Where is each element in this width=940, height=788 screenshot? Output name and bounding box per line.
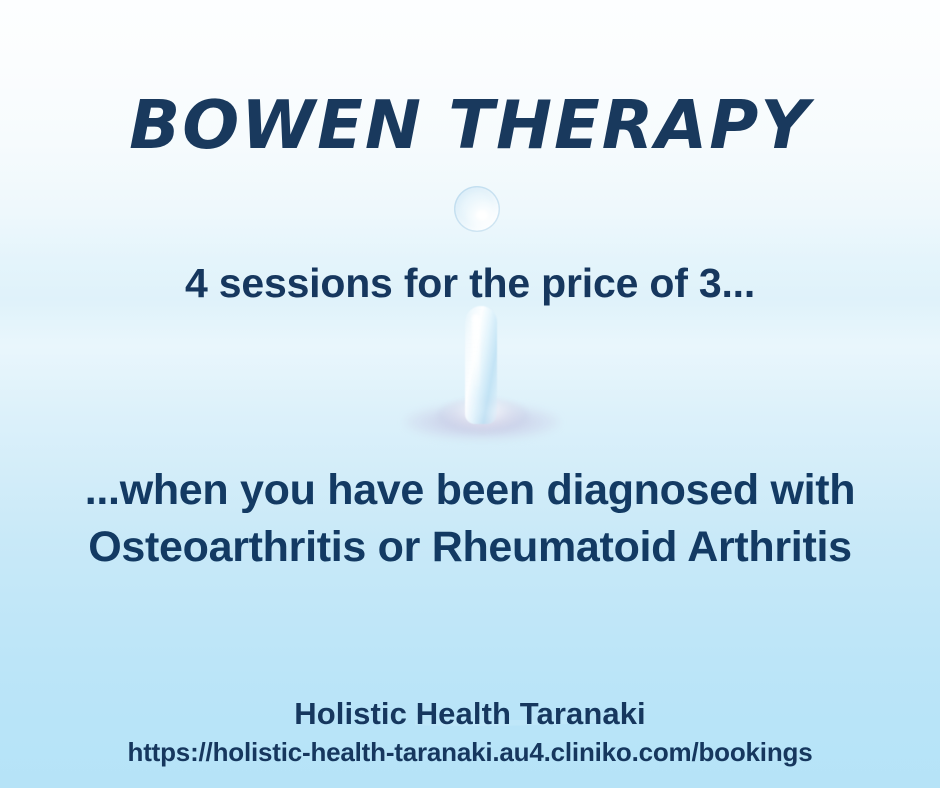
- water-droplet-specular-icon: [476, 210, 488, 220]
- offer-body: ...when you have been diagnosed with Ost…: [0, 462, 940, 576]
- poster-canvas: BOWEN THERAPY 4 sessions for the price o…: [0, 0, 940, 788]
- business-name: Holistic Health Taranaki: [0, 696, 940, 732]
- footer: Holistic Health Taranaki https://holisti…: [0, 696, 940, 768]
- offer-subheading: 4 sessions for the price of 3...: [0, 260, 940, 307]
- water-splash-highlight: [472, 314, 480, 390]
- water-droplet-icon: [454, 186, 500, 232]
- water-splash-icon: [465, 306, 497, 424]
- offer-body-line-1: ...when you have been diagnosed with: [0, 462, 940, 519]
- page-title: BOWEN THERAPY: [0, 86, 940, 164]
- booking-url-link[interactable]: https://holistic-health-taranaki.au4.cli…: [0, 737, 940, 768]
- offer-body-line-2: Osteoarthritis or Rheumatoid Arthritis: [0, 519, 940, 576]
